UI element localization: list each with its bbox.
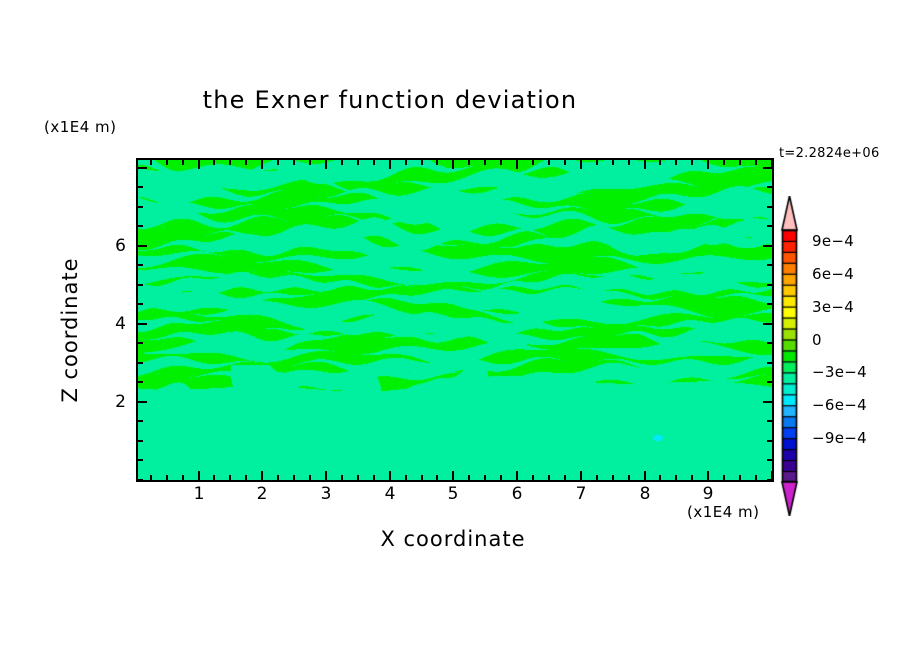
x-axis-unit-label: (x1E4 m) bbox=[687, 503, 760, 521]
colorbar-tick-label: 0 bbox=[812, 331, 822, 349]
colorbar-tick-label: 6e−4 bbox=[812, 265, 854, 283]
colorbar-canvas bbox=[774, 196, 814, 516]
y-axis-tick-label: 6 bbox=[102, 236, 126, 256]
colorbar-tick-label: −6e−4 bbox=[812, 396, 867, 414]
x-axis-tick-label: 6 bbox=[512, 484, 523, 504]
x-axis-tick-label: 1 bbox=[194, 484, 205, 504]
y-axis-unit-label: (x1E4 m) bbox=[44, 118, 117, 136]
x-axis-tick-label: 9 bbox=[703, 484, 714, 504]
colorbar-tick-label: 3e−4 bbox=[812, 298, 854, 316]
x-axis-tick-label: 3 bbox=[321, 484, 332, 504]
colorbar-tick-label: −3e−4 bbox=[812, 363, 867, 381]
x-axis-title: X coordinate bbox=[136, 527, 770, 551]
x-axis-tick-label: 5 bbox=[448, 484, 459, 504]
y-axis-title: Z coordinate bbox=[58, 230, 82, 430]
x-axis-tick-label: 4 bbox=[385, 484, 396, 504]
x-axis-tick-label: 8 bbox=[640, 484, 651, 504]
timestamp-label: t=2.2824e+06 bbox=[779, 146, 880, 161]
x-axis-tick-label: 7 bbox=[576, 484, 587, 504]
colorbar bbox=[774, 196, 814, 516]
colorbar-tick-label: 9e−4 bbox=[812, 232, 854, 250]
contour-plot-area bbox=[136, 158, 774, 482]
contour-field-canvas bbox=[138, 160, 772, 480]
page-title: the Exner function deviation bbox=[0, 86, 780, 114]
y-axis-tick-label: 2 bbox=[102, 392, 126, 412]
colorbar-tick-label: −9e−4 bbox=[812, 429, 867, 447]
x-axis-tick-label: 2 bbox=[257, 484, 268, 504]
y-axis-tick-label: 4 bbox=[102, 314, 126, 334]
